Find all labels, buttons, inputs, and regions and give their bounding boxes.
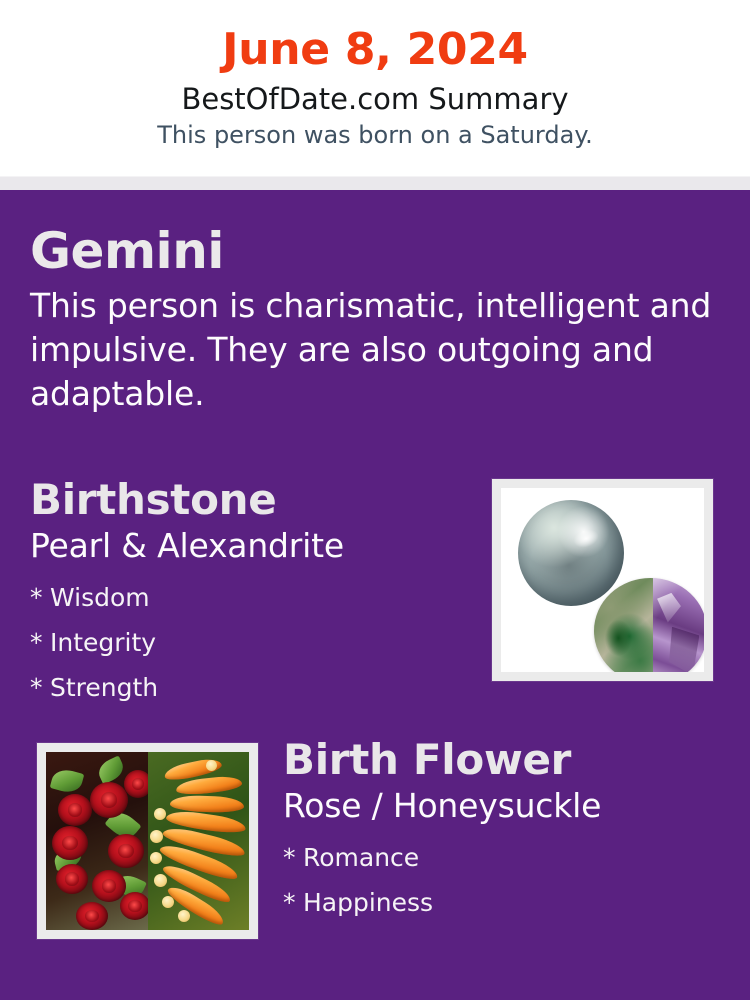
honeysuckle-bud-icon	[206, 760, 217, 771]
rose-icon	[56, 864, 88, 894]
header-divider	[0, 176, 750, 191]
birthstone-image	[492, 479, 713, 681]
birthstone-image-inner	[501, 488, 704, 672]
list-item: *Integrity	[30, 620, 470, 665]
list-item: *Wisdom	[30, 575, 470, 620]
alexandrite-rough-half	[594, 578, 653, 672]
birthday-summary-card: June 8, 2024 BestOfDate.com Summary This…	[0, 0, 750, 1000]
honeysuckle-tube-icon	[169, 795, 244, 814]
page-title: June 8, 2024	[0, 22, 750, 78]
birth-flower-trait-label: Happiness	[303, 888, 433, 917]
birth-flower-heading: Birth Flower	[283, 735, 723, 785]
bullet-star-icon: *	[283, 880, 303, 925]
bullet-star-icon: *	[30, 620, 50, 665]
honeysuckle-bud-icon	[162, 896, 174, 908]
rose-icon	[52, 826, 88, 860]
list-item: *Happiness	[283, 880, 723, 925]
birth-flower-section: Birth Flower Rose / Honeysuckle *Romance…	[283, 735, 723, 925]
honeysuckle-bud-icon	[150, 830, 163, 843]
header-section: June 8, 2024 BestOfDate.com Summary This…	[0, 0, 750, 176]
birthstone-heading: Birthstone	[30, 475, 470, 525]
alexandrite-faceted-half	[653, 578, 704, 672]
honeysuckle-bud-icon	[154, 808, 166, 820]
zodiac-sign-name: Gemini	[30, 222, 720, 280]
bullet-star-icon: *	[283, 835, 303, 880]
list-item: *Strength	[30, 665, 470, 710]
birth-flower-trait-label: Romance	[303, 843, 419, 872]
rose-icon	[108, 834, 144, 868]
zodiac-section: Gemini This person is charismatic, intel…	[30, 222, 720, 416]
born-weekday-text: This person was born on a Saturday.	[0, 119, 750, 151]
site-summary-label: BestOfDate.com Summary	[0, 80, 750, 118]
birthstone-section: Birthstone Pearl & Alexandrite *Wisdom *…	[30, 475, 470, 710]
rose-icon	[58, 794, 92, 826]
birthstone-trait-label: Wisdom	[50, 583, 150, 612]
honeysuckle-bud-icon	[150, 852, 162, 864]
birthstone-trait-list: *Wisdom *Integrity *Strength	[30, 575, 470, 710]
birthstone-value: Pearl & Alexandrite	[30, 525, 470, 567]
zodiac-description: This person is charismatic, intelligent …	[30, 284, 720, 416]
birth-flower-value: Rose / Honeysuckle	[283, 785, 723, 827]
birthstone-trait-label: Integrity	[50, 628, 156, 657]
bullet-star-icon: *	[30, 575, 50, 620]
honeysuckle-bud-icon	[178, 910, 190, 922]
honeysuckle-bud-icon	[154, 874, 167, 887]
rose-icon	[124, 770, 148, 798]
birth-flower-image-inner	[46, 752, 249, 930]
birth-flower-trait-list: *Romance *Happiness	[283, 835, 723, 925]
bullet-star-icon: *	[30, 665, 50, 710]
honeysuckle-photo-half	[148, 752, 250, 930]
birthstone-trait-label: Strength	[50, 673, 158, 702]
birth-flower-image	[37, 743, 258, 939]
rose-icon	[76, 902, 108, 930]
leaf-icon	[50, 766, 85, 795]
alexandrite-icon	[594, 578, 704, 672]
list-item: *Romance	[283, 835, 723, 880]
rose-icon	[120, 892, 148, 920]
rose-icon	[90, 782, 128, 818]
rose-icon	[92, 870, 126, 902]
roses-photo-half	[46, 752, 148, 930]
leaf-icon	[95, 755, 127, 784]
